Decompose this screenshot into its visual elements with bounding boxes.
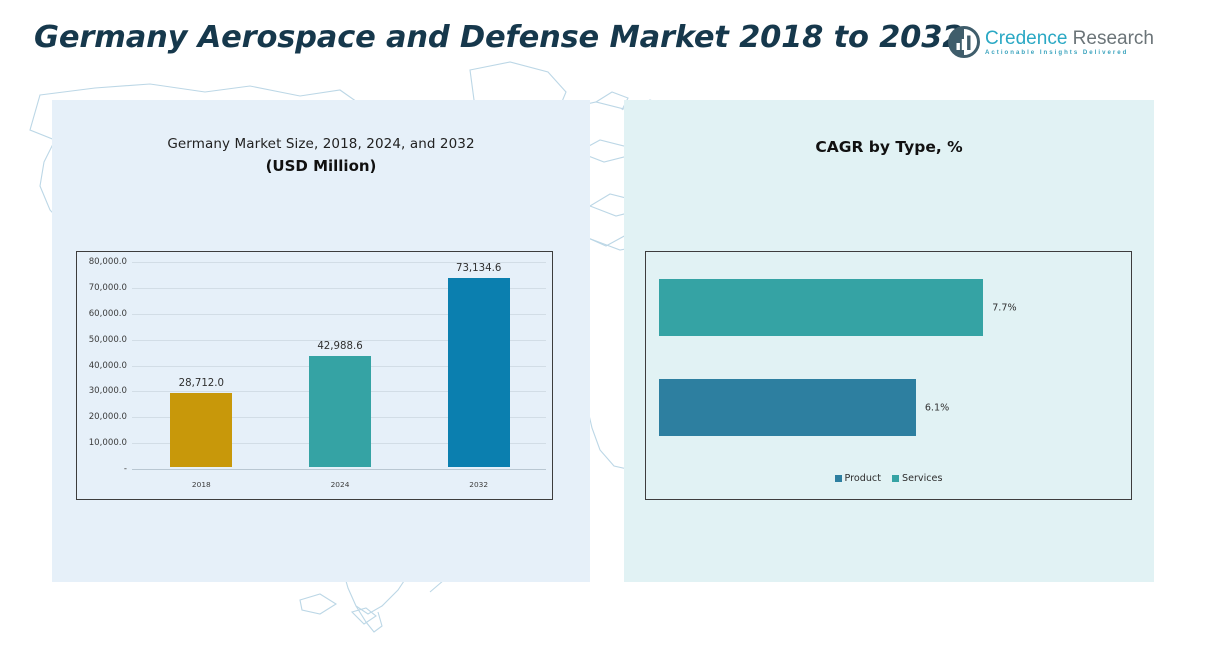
left-chart-title: Germany Market Size, 2018, 2024, and 203…: [52, 136, 590, 175]
legend-item[interactable]: Product: [835, 473, 881, 484]
cagr-legend: ProductServices: [646, 473, 1131, 484]
bar-rect: [309, 356, 371, 467]
bar-chart-circle-icon: [948, 26, 980, 58]
right-chart-title: CAGR by Type, %: [624, 138, 1154, 156]
x-axis-tick-label: 2018: [192, 480, 211, 489]
page-title-text: Germany Aerospace and Defense Market 201…: [34, 18, 974, 58]
x-axis-line: [132, 469, 546, 470]
brand-logo[interactable]: Credence Research Actionable Insights De…: [948, 26, 1154, 58]
x-axis-tick-label: 2024: [331, 480, 350, 489]
y-axis-tick-label: 50,000.0: [77, 335, 127, 345]
x-axis-tick-label: 2032: [469, 480, 488, 489]
page-title: Germany Aerospace and Defense Market 201…: [34, 18, 974, 58]
cagr-bar-product: 6.1%: [659, 379, 916, 436]
y-axis-tick-label: 80,000.0: [77, 257, 127, 267]
bar-value-label: 28,712.0: [179, 378, 224, 389]
cagr-value-label: 6.1%: [925, 402, 949, 413]
brand-name: Credence Research: [985, 29, 1154, 48]
y-axis-tick-label: 70,000.0: [77, 283, 127, 293]
cagr-by-type-bar-chart: 7.7%6.1% ProductServices: [645, 251, 1132, 500]
left-chart-title-line1: Germany Market Size, 2018, 2024, and 203…: [52, 136, 590, 152]
bar-rect: [170, 393, 232, 467]
brand-name-secondary: Research: [1067, 28, 1154, 49]
infographic-canvas: Germany Aerospace and Defense Market 201…: [0, 0, 1208, 652]
brand-name-primary: Credence: [985, 28, 1067, 49]
y-axis-tick-label: 20,000.0: [77, 412, 127, 422]
bar-rect: [448, 278, 510, 467]
legend-swatch-icon: [892, 475, 899, 482]
legend-label: Services: [902, 473, 942, 484]
left-chart-title-line2: (USD Million): [52, 157, 590, 175]
brand-logo-text: Credence Research Actionable Insights De…: [985, 29, 1154, 56]
cagr-bar-services: 7.7%: [659, 279, 983, 336]
legend-swatch-icon: [835, 475, 842, 482]
bar-column: 42,988.6: [309, 356, 371, 467]
y-axis-tick-label: 40,000.0: [77, 361, 127, 371]
y-axis-tick-label: 10,000.0: [77, 438, 127, 448]
bar-column: 73,134.6: [448, 278, 510, 467]
y-axis-tick-label: -: [77, 464, 127, 474]
bar-value-label: 73,134.6: [456, 263, 501, 274]
bar-value-label: 42,988.6: [317, 341, 362, 352]
brand-tagline: Actionable Insights Delivered: [985, 49, 1154, 56]
market-size-bar-chart: -10,000.020,000.030,000.040,000.050,000.…: [76, 251, 553, 500]
y-axis-tick-label: 30,000.0: [77, 386, 127, 396]
y-axis-tick-label: 60,000.0: [77, 309, 127, 319]
legend-label: Product: [845, 473, 881, 484]
cagr-value-label: 7.7%: [992, 302, 1016, 313]
bar-column: 28,712.0: [170, 393, 232, 467]
legend-item[interactable]: Services: [892, 473, 942, 484]
